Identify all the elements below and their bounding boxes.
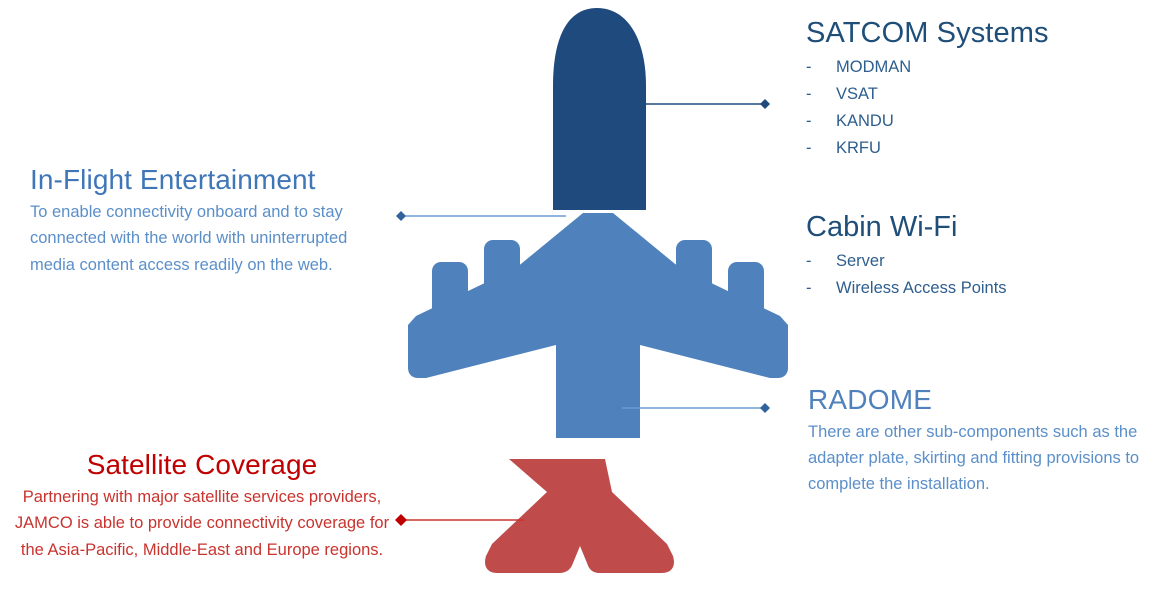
bullet-dash-icon: - xyxy=(806,275,836,302)
bullet-dash-icon: - xyxy=(806,135,836,162)
bullet-dash-icon: - xyxy=(806,54,836,81)
bullet-dash-icon: - xyxy=(806,81,836,108)
list-item: - Server xyxy=(806,248,1146,275)
diagram-canvas: SATCOM Systems - MODMAN - VSAT - KANDU -… xyxy=(0,0,1159,605)
list-item: - MODMAN xyxy=(806,54,1146,81)
bullet-dash-icon: - xyxy=(806,248,836,275)
ife-heading: In-Flight Entertainment xyxy=(30,165,390,194)
aircraft-tail xyxy=(485,459,674,573)
aircraft-body xyxy=(408,213,788,438)
list-item-label: MODMAN xyxy=(836,54,911,81)
list-item-label: VSAT xyxy=(836,81,878,108)
cabin-wifi-bullet-list: - Server - Wireless Access Points xyxy=(806,248,1146,302)
satellite-coverage-body: Partnering with major satellite services… xyxy=(12,484,392,562)
list-item: - KRFU xyxy=(806,135,1146,162)
bullet-dash-icon: - xyxy=(806,108,836,135)
leader-line-ife xyxy=(396,211,566,221)
list-item: - KANDU xyxy=(806,108,1146,135)
cabin-wifi-heading: Cabin Wi-Fi xyxy=(806,212,1146,242)
leader-line-satcom xyxy=(632,99,770,109)
list-item-label: Server xyxy=(836,248,885,275)
callout-satellite-coverage: Satellite Coverage Partnering with major… xyxy=(12,450,392,563)
callout-ife: In-Flight Entertainment To enable connec… xyxy=(30,165,390,278)
radome-body: There are other sub-components such as t… xyxy=(808,420,1158,497)
callout-satcom: SATCOM Systems - MODMAN - VSAT - KANDU -… xyxy=(806,18,1146,162)
leader-line-radome xyxy=(622,403,770,413)
list-item: - Wireless Access Points xyxy=(806,275,1146,302)
callout-cabin-wifi: Cabin Wi-Fi - Server - Wireless Access P… xyxy=(806,212,1146,302)
radome-heading: RADOME xyxy=(808,385,1158,414)
list-item-label: Wireless Access Points xyxy=(836,275,1007,302)
callout-radome: RADOME There are other sub-components su… xyxy=(808,385,1158,497)
list-item-label: KANDU xyxy=(836,108,894,135)
ife-body: To enable connectivity onboard and to st… xyxy=(30,199,390,277)
list-item-label: KRFU xyxy=(836,135,881,162)
satcom-heading: SATCOM Systems xyxy=(806,18,1146,48)
leader-line-satellite-coverage xyxy=(395,514,524,526)
list-item: - VSAT xyxy=(806,81,1146,108)
satellite-coverage-heading: Satellite Coverage xyxy=(12,450,392,479)
satcom-bullet-list: - MODMAN - VSAT - KANDU - KRFU xyxy=(806,54,1146,162)
radome-nose-dome xyxy=(553,8,646,210)
